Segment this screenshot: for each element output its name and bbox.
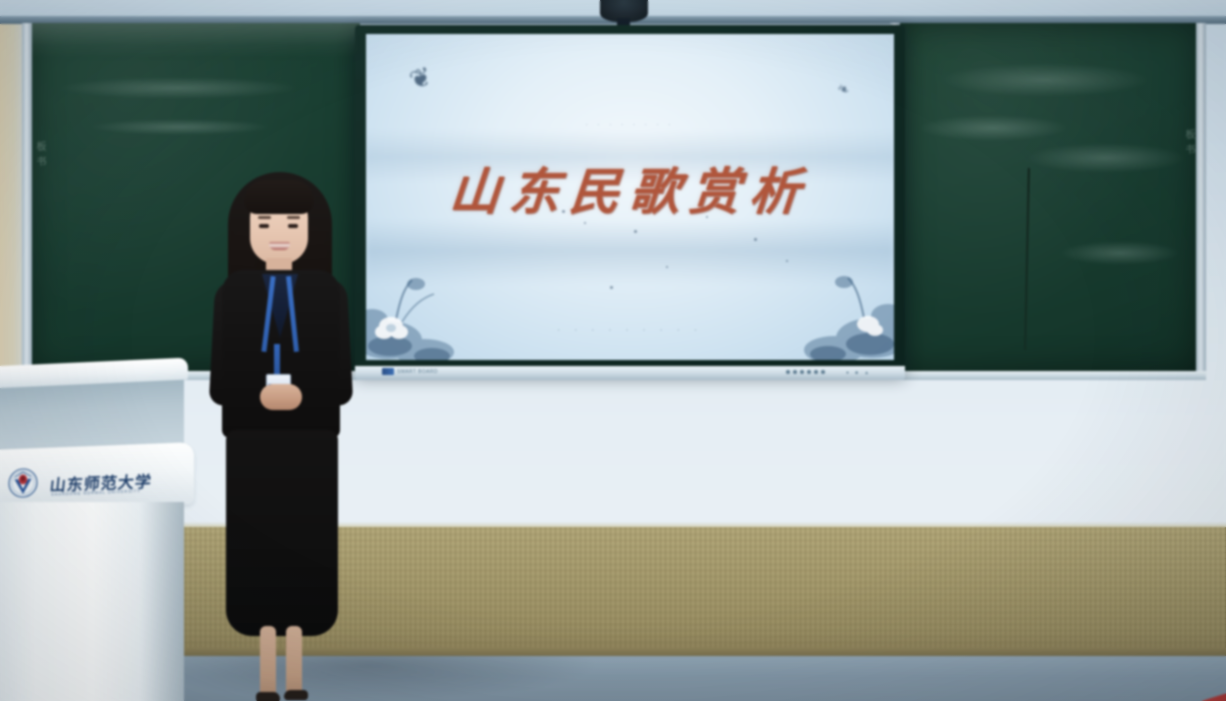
eye-left xyxy=(259,224,269,228)
ink-speck xyxy=(754,238,757,241)
board-right-tray xyxy=(890,371,1206,380)
chalk-smudge xyxy=(1060,241,1180,265)
presentation-screen[interactable]: ❦ ❧ · · · · · · · · 山东民歌赏析 · · · · · · ·… xyxy=(366,34,894,360)
panel-brand-mark-icon xyxy=(382,368,394,375)
panel-key[interactable] xyxy=(793,370,797,374)
panel-key[interactable] xyxy=(807,370,811,374)
ink-speck xyxy=(584,222,586,224)
slide-title: 山东民歌赏析 xyxy=(366,152,894,224)
panel-side-icons[interactable]: ● ■ ▲ xyxy=(846,370,869,376)
ink-speck xyxy=(706,216,708,218)
shoe-right xyxy=(284,690,308,700)
shoe-left xyxy=(256,692,280,701)
panel-key[interactable] xyxy=(814,370,818,374)
chalk-smudge xyxy=(940,63,1150,97)
leg-left xyxy=(260,626,276,698)
chalk-residue xyxy=(30,23,360,57)
ink-speck xyxy=(610,286,613,289)
chalk-smudge xyxy=(90,119,270,135)
ink-swallow-icon: ❦ xyxy=(407,63,436,94)
hair-fringe xyxy=(244,180,314,214)
lanyard-strap-center xyxy=(274,344,280,378)
clasped-hands xyxy=(260,384,302,410)
panel-key[interactable] xyxy=(786,370,790,374)
chalk-smudge xyxy=(1026,143,1186,173)
panel-source-icon[interactable]: ■ xyxy=(855,370,858,376)
panel-brand: SMART BOARD xyxy=(382,368,438,375)
lectern[interactable]: 山东师范大学 SHANDONG NORMAL UNIVERSITY xyxy=(0,362,202,701)
presenter xyxy=(186,168,376,701)
panel-key-row[interactable] xyxy=(786,370,825,374)
panel-menu-icon[interactable]: ▲ xyxy=(864,370,869,376)
eyebrow-right xyxy=(287,216,300,219)
chalk-smudge xyxy=(58,77,298,99)
panel-brand-label: SMART BOARD xyxy=(397,369,438,375)
ink-speck xyxy=(562,210,565,213)
ink-swallow-icon: ❧ xyxy=(835,80,852,99)
mouth-smile xyxy=(269,242,290,250)
lecture-capture-frame: 板书 板书 ❦ ❧ · · · · · · · · 山东民歌赏析 · · · ·… xyxy=(0,0,1226,701)
eye-right xyxy=(288,224,298,228)
ink-speck xyxy=(786,260,788,262)
panel-key[interactable] xyxy=(821,370,825,374)
board-right-edge-label: 板书 xyxy=(1183,129,1193,207)
university-crest-icon xyxy=(8,467,38,498)
panel-key[interactable] xyxy=(800,370,804,374)
ink-speck xyxy=(634,230,637,233)
panel-power-icon[interactable]: ● xyxy=(846,370,849,376)
board-left-edge-label: 板书 xyxy=(34,141,44,237)
slide-microline: · · · · · · · · xyxy=(366,122,894,129)
chalkboard-right: 板书 xyxy=(900,23,1196,373)
slide-subtitle: · · · · · · · · · xyxy=(366,326,894,335)
ink-speck xyxy=(666,266,668,268)
leg-right xyxy=(286,626,302,696)
skirt xyxy=(226,430,338,636)
lectern-column-shadow xyxy=(140,502,184,701)
chalk-smudge xyxy=(918,115,1068,141)
board-left-frame xyxy=(22,23,32,373)
eyebrow-left xyxy=(258,216,271,219)
board-right-outer-frame xyxy=(1196,23,1206,373)
ink-mist-band xyxy=(366,220,894,284)
